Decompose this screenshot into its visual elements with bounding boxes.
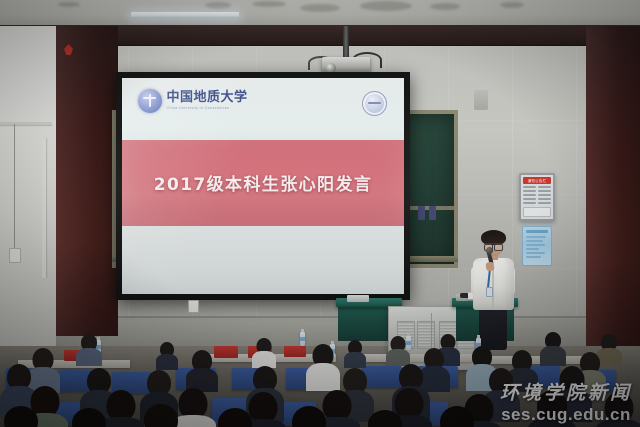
watermark: 环境学院新闻 ses.cug.edu.cn: [500, 384, 632, 423]
ceiling-stain: [300, 4, 340, 12]
notice-board: 通知公告栏: [519, 173, 555, 221]
pull-cord: [14, 124, 15, 250]
poster-line: [526, 240, 543, 242]
board-magnet-clip: [418, 206, 425, 220]
lecture-hall-photo: 中国地质大学 China University of Geosciences 2…: [0, 0, 640, 427]
curtain-sheen: [56, 26, 118, 336]
notice-line: [523, 190, 551, 192]
university-seal-icon: [362, 91, 387, 116]
audience-member: [76, 334, 102, 364]
notice-board-header-text: 通知公告栏: [528, 178, 546, 183]
poster-line: [526, 236, 546, 238]
board-magnet-clip: [429, 206, 436, 220]
watermark-text-cn: 环境学院新闻: [500, 384, 632, 403]
projection-screen-frame: 中国地质大学 China University of Geosciences 2…: [116, 72, 410, 300]
watermark-url: ses.cug.edu.cn: [500, 406, 632, 423]
audience-member: [306, 344, 340, 390]
university-name-cn: 中国地质大学: [167, 91, 248, 104]
wall-conduit-horizontal: [0, 122, 52, 125]
audience-member: [208, 408, 262, 427]
ceiling-stain: [500, 2, 524, 8]
projector-mount-pole: [343, 26, 349, 61]
audience-member: [252, 338, 276, 366]
audience-body: [156, 354, 178, 370]
audience-member: [358, 410, 412, 427]
notice-line: [523, 194, 551, 196]
slide-footer-area: [122, 226, 404, 294]
audience-body: [306, 363, 340, 391]
poster-line: [526, 256, 541, 258]
notice-board-text-lines: [523, 186, 551, 204]
audience-head: [4, 406, 38, 427]
water-bottle: [300, 332, 305, 346]
notice-board-footer: [523, 207, 551, 217]
audience-head: [72, 408, 106, 427]
audience-head: [368, 410, 402, 427]
wall-conduit-vertical: [42, 138, 46, 278]
wall-mounted-speaker: [474, 90, 488, 110]
audience-member: [134, 404, 188, 427]
audience-member: [430, 406, 484, 427]
ceiling-tube-light: [131, 12, 239, 18]
notice-board-header: 通知公告栏: [523, 177, 551, 184]
ceiling-stain: [58, 2, 80, 7]
audience-member: [156, 342, 178, 368]
university-name-en: China University of Geosciences: [167, 107, 248, 111]
university-logo-text: 中国地质大学 China University of Geosciences: [167, 91, 248, 111]
audience-member: [282, 406, 336, 427]
audience-member: [386, 336, 410, 364]
speaker-name-badge: [486, 287, 493, 297]
audience-body: [540, 346, 566, 366]
ceiling-stain: [205, 2, 231, 9]
curtain-panel-right: [586, 26, 640, 356]
audience-member: [186, 350, 218, 390]
slide-title: 2017级本科生张心阳发言: [122, 140, 404, 226]
left-wall-panel: [0, 26, 56, 346]
wall-poster: [522, 226, 552, 266]
poster-header-bar: [526, 230, 548, 233]
curtain-sheen: [586, 26, 640, 356]
notice-line: [523, 198, 551, 200]
notice-line: [523, 186, 551, 188]
audience-head: [440, 406, 474, 427]
audience-member: [62, 408, 116, 427]
audience-body: [344, 352, 366, 368]
audience-head: [292, 406, 326, 427]
university-emblem-icon: [138, 89, 162, 113]
audience-member: [0, 406, 48, 427]
ceiling-stain: [430, 3, 460, 10]
audience-head: [218, 408, 252, 427]
ceiling-stain: [252, 1, 286, 7]
wall-outlet[interactable]: [188, 300, 199, 313]
audience-head: [144, 404, 178, 427]
microphone-head-icon: [486, 247, 493, 254]
ceiling-stain: [360, 1, 412, 11]
light-switch[interactable]: [9, 248, 21, 263]
poster-line: [526, 248, 539, 250]
projection-screen: 中国地质大学 China University of Geosciences 2…: [122, 78, 404, 294]
curtain-panel-left: [56, 26, 118, 336]
audience-body: [76, 348, 102, 366]
audience-member: [540, 332, 566, 364]
audience-member: [344, 340, 366, 366]
notice-line: [523, 202, 551, 204]
name-placard: [284, 346, 306, 357]
university-logo: 中国地质大学 China University of Geosciences: [138, 89, 248, 113]
poster-line: [526, 252, 545, 254]
poster-line: [526, 244, 545, 246]
desk-equipment-box: [347, 295, 369, 302]
